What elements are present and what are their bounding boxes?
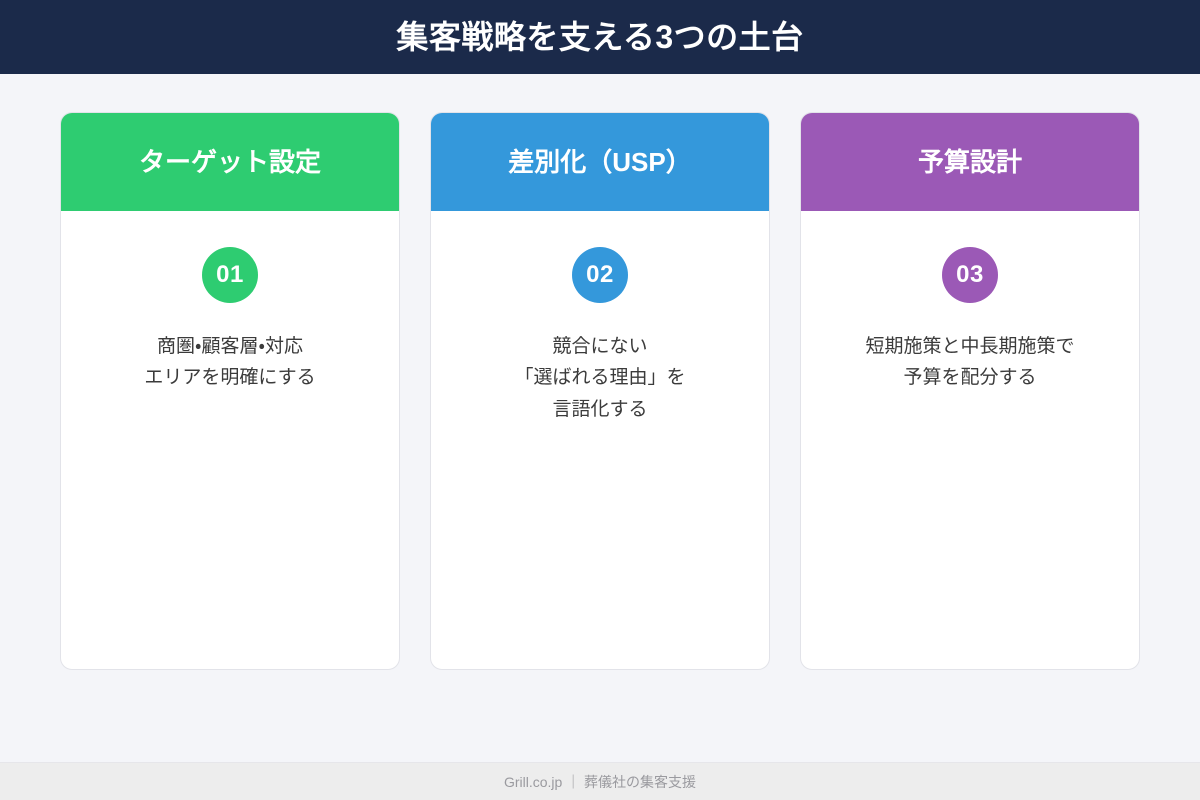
pillar-card-3-body: 短期施策と中長期施策で 予算を配分する — [843, 331, 1096, 394]
pillar-card-2-title: 差別化（USP） — [508, 149, 691, 175]
pillar-card-1-header: ターゲット設定 — [61, 113, 399, 211]
pillar-card-row: ターゲット設定 01 商圏・顧客層・対応 エリアを明確にする 差別化（USP） … — [60, 112, 1140, 670]
content-stage: ターゲット設定 01 商圏・顧客層・対応 エリアを明確にする 差別化（USP） … — [0, 74, 1200, 800]
pillar-card-2-header: 差別化（USP） — [431, 113, 769, 211]
pillar-card-3-title: 予算設計 — [918, 149, 1022, 175]
page-header: 集客戦略を支える3つの土台 — [0, 0, 1200, 74]
page-title: 集客戦略を支える3つの土台 — [396, 21, 803, 53]
pillar-card-1-title: ターゲット設定 — [139, 149, 321, 175]
pillar-card-1-badge: 01 — [202, 247, 258, 303]
pillar-card-3[interactable]: 予算設計 03 短期施策と中長期施策で 予算を配分する — [800, 112, 1140, 670]
footer-credit: Grill.co.jp ｜ 葬儀社の集客支援 — [504, 775, 696, 789]
pillar-card-1-number: 01 — [216, 263, 244, 287]
pillar-card-1[interactable]: ターゲット設定 01 商圏・顧客層・対応 エリアを明確にする — [60, 112, 400, 670]
pillar-card-2-body: 競合にない 「選ばれる理由」を 言語化する — [492, 331, 707, 425]
pillar-card-2-number: 02 — [586, 263, 614, 287]
pillar-card-2-badge: 02 — [572, 247, 628, 303]
pillar-card-2[interactable]: 差別化（USP） 02 競合にない 「選ばれる理由」を 言語化する — [430, 112, 770, 670]
pillar-card-3-number: 03 — [956, 263, 984, 287]
page-footer: Grill.co.jp ｜ 葬儀社の集客支援 — [0, 762, 1200, 800]
pillar-card-3-badge: 03 — [942, 247, 998, 303]
pillar-card-1-body: 商圏・顧客層・対応 エリアを明確にする — [122, 331, 337, 394]
pillar-card-3-header: 予算設計 — [801, 113, 1139, 211]
